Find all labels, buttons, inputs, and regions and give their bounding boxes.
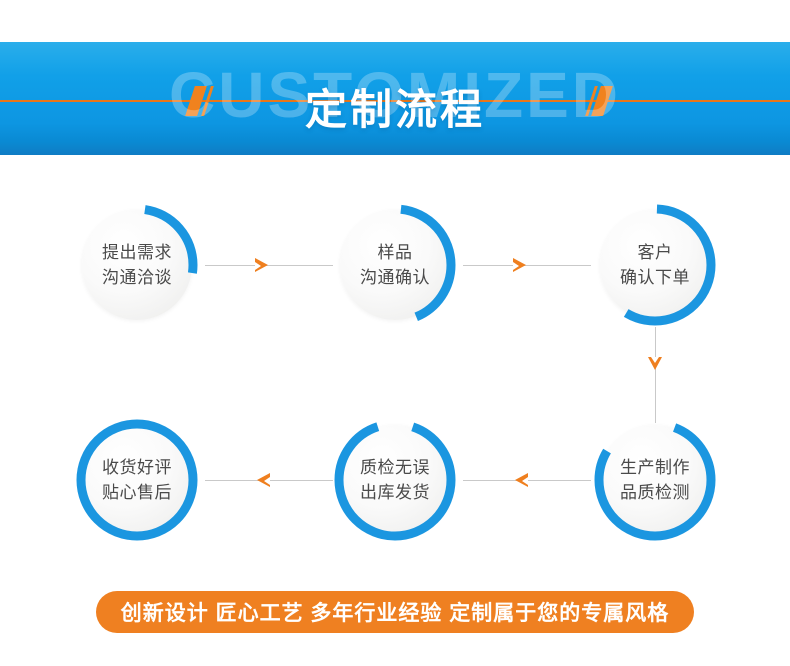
arrow-down-notch-icon [651, 357, 659, 363]
flow-node-step-6[interactable]: 收货好评 贴心售后 [76, 419, 198, 541]
flow-node-line2: 品质检测 [620, 480, 690, 505]
arrow-left-2-notch-icon [264, 477, 270, 485]
connector-step1-step2 [205, 265, 333, 266]
flow-node-line2: 沟通确认 [360, 265, 430, 290]
connector-step3-step4 [655, 327, 656, 423]
flow-node-label-step-4: 生产制作 品质检测 [594, 419, 716, 541]
connector-step2-step3 [463, 265, 591, 266]
header-banner: CUSTOMIZED 定制流程 [0, 42, 790, 155]
flow-node-label-step-5: 质检无误 出库发货 [334, 419, 456, 541]
flow-node-line1: 质检无误 [360, 455, 430, 480]
flow-node-line2: 确认下单 [620, 265, 690, 290]
flow-node-label-step-6: 收货好评 贴心售后 [76, 419, 198, 541]
footer-slogan-banner: 创新设计 匠心工艺 多年行业经验 定制属于您的专属风格 [96, 591, 694, 633]
flow-node-step-4[interactable]: 生产制作 品质检测 [594, 419, 716, 541]
flow-node-step-5[interactable]: 质检无误 出库发货 [334, 419, 456, 541]
flow-node-step-1[interactable]: 提出需求 沟通洽谈 [76, 204, 198, 326]
flow-node-line1: 生产制作 [620, 455, 690, 480]
flow-node-line1: 提出需求 [102, 240, 172, 265]
flow-node-step-2[interactable]: 样品 沟通确认 [334, 204, 456, 326]
arrow-right-2-notch-icon [513, 262, 519, 270]
flow-node-label-step-3: 客户 确认下单 [594, 204, 716, 326]
flow-node-line2: 出库发货 [360, 480, 430, 505]
arrow-right-1-notch-icon [255, 262, 261, 270]
footer-slogan-text: 创新设计 匠心工艺 多年行业经验 定制属于您的专属风格 [121, 597, 670, 627]
flow-node-line1: 样品 [378, 240, 413, 265]
flow-node-label-step-2: 样品 沟通确认 [334, 204, 456, 326]
flow-node-label-step-1: 提出需求 沟通洽谈 [76, 204, 198, 326]
page-title: 定制流程 [0, 84, 790, 136]
flow-node-line2: 贴心售后 [102, 480, 172, 505]
flow-node-line2: 沟通洽谈 [102, 265, 172, 290]
process-flow-diagram: 提出需求 沟通洽谈 样品 沟通确认 客户 确认下单 生产制作 品质检测 [0, 155, 790, 585]
arrow-left-1-notch-icon [522, 477, 528, 485]
flow-node-line1: 收货好评 [102, 455, 172, 480]
flow-node-line1: 客户 [638, 240, 673, 265]
flow-node-step-3[interactable]: 客户 确认下单 [594, 204, 716, 326]
